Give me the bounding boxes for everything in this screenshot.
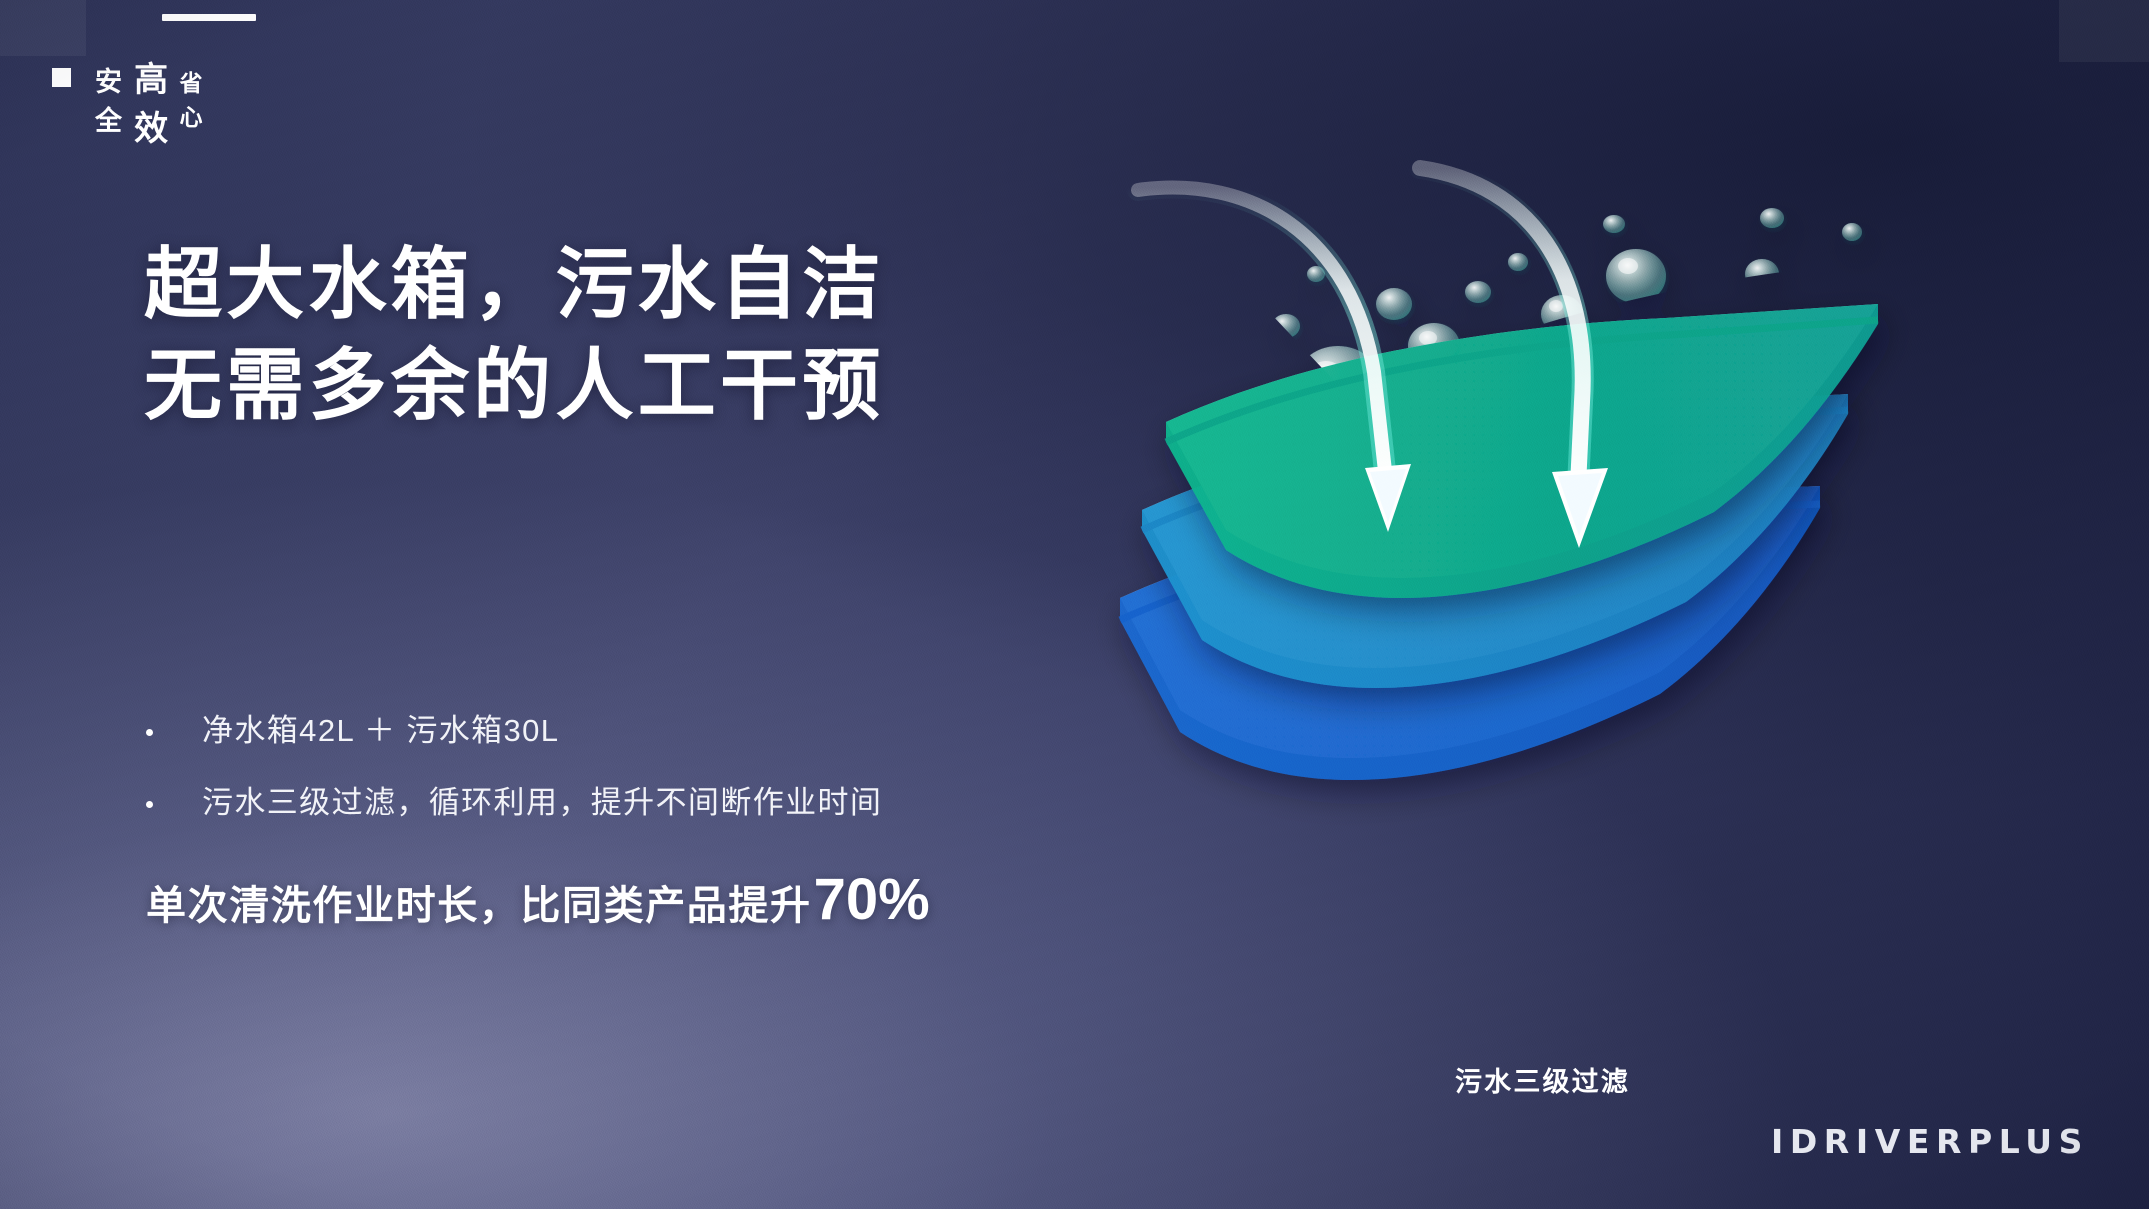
title-line-1: 超大水箱，污水自洁 xyxy=(144,234,885,335)
corner-accent-top-left xyxy=(0,0,86,56)
list-item: 净水箱42L ＋ 污水箱30L xyxy=(146,710,882,752)
corner-accent-top-right xyxy=(2059,0,2149,62)
filter-layers-illustration xyxy=(1120,150,2050,940)
bullet-dot-icon xyxy=(146,729,153,736)
header-keywords: 安全 高效 省心 xyxy=(52,52,203,150)
square-bullet-icon xyxy=(52,68,71,87)
header-keyword-safe: 安全 xyxy=(95,60,123,138)
header-keyword-worryfree: 省心 xyxy=(179,64,203,132)
list-item: 污水三级过滤，循环利用，提升不间断作业时间 xyxy=(146,782,882,824)
page-title: 超大水箱，污水自洁 无需多余的人工干预 xyxy=(144,234,885,437)
highlight-percentage: 70% xyxy=(814,866,930,933)
title-line-2: 无需多余的人工干预 xyxy=(144,335,885,436)
bullet-text: 净水箱42L ＋ 污水箱30L xyxy=(202,710,559,752)
slide-root: 安全 高效 省心 超大水箱，污水自洁 无需多余的人工干预 净水箱42L ＋ 污水… xyxy=(0,0,2149,1209)
illustration-caption: 污水三级过滤 xyxy=(1455,1060,1630,1099)
brand-logo: IDRIVERPLUS xyxy=(1771,1122,2089,1161)
bullet-text: 污水三级过滤，循环利用，提升不间断作业时间 xyxy=(202,782,882,824)
header-keyword-efficient: 高效 xyxy=(134,52,168,150)
bullet-dot-icon xyxy=(146,801,153,808)
filter-layers-svg xyxy=(1120,150,2050,940)
feature-bullet-list: 净水箱42L ＋ 污水箱30L 污水三级过滤，循环利用，提升不间断作业时间 xyxy=(146,710,882,854)
highlight-text: 单次清洗作业时长，比同类产品提升 xyxy=(146,873,812,931)
header-dash-icon xyxy=(162,14,256,21)
highlight-statement: 单次清洗作业时长，比同类产品提升 70% xyxy=(146,866,930,933)
